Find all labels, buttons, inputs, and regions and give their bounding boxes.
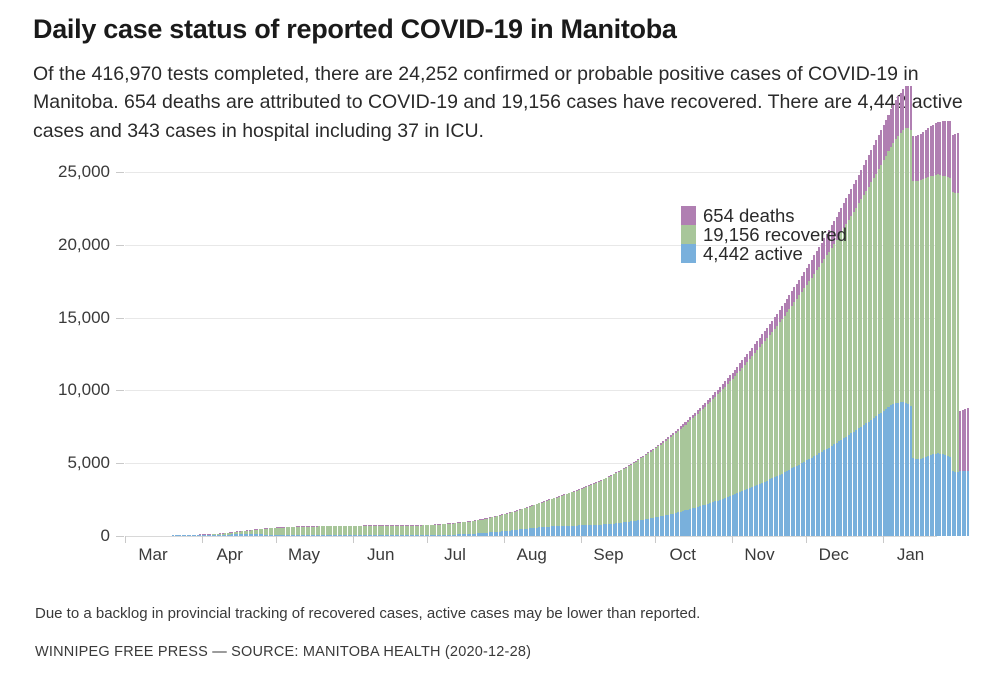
y-tick-mark-15000 <box>116 318 124 319</box>
legend-item-active: 4,442 active <box>681 244 847 263</box>
x-tick-mark-aug <box>504 536 505 543</box>
page-title: Daily case status of reported COVID-19 i… <box>33 14 963 45</box>
source-credit: WINNIPEG FREE PRESS — SOURCE: MANITOBA H… <box>35 644 531 660</box>
x-tick-label-sep: Sep <box>593 545 623 565</box>
legend-label-active: 4,442 active <box>703 244 803 263</box>
y-tick-label-0: 0 <box>0 526 110 546</box>
y-axis-labels: 05,00010,00015,00020,00025,000 <box>0 172 110 536</box>
x-tick-mark-jun <box>353 536 354 543</box>
y-tick-label-20000: 20,000 <box>0 235 110 255</box>
bar-day-340 <box>967 408 969 536</box>
x-tick-mark-sep <box>581 536 582 543</box>
x-tick-label-jun: Jun <box>367 545 394 565</box>
legend-swatch-active-icon <box>681 244 696 263</box>
x-tick-mark-mar <box>125 536 126 543</box>
x-tick-mark-apr <box>202 536 203 543</box>
legend-swatch-recovered-icon <box>681 225 696 244</box>
legend-label-deaths: 654 deaths <box>703 206 795 225</box>
legend-swatch-deaths-icon <box>681 206 696 225</box>
x-tick-mark-jan <box>883 536 884 543</box>
legend-item-recovered: 19,156 recovered <box>681 225 847 244</box>
y-tick-label-15000: 15,000 <box>0 308 110 328</box>
summary-paragraph: Of the 416,970 tests completed, there ar… <box>33 60 973 145</box>
y-tick-label-25000: 25,000 <box>0 162 110 182</box>
chart-footnote: Due to a backlog in provincial tracking … <box>35 605 700 622</box>
x-tick-mark-dec <box>806 536 807 543</box>
x-axis: MarAprMayJunJulAugSepOctNovDecJan <box>125 536 937 572</box>
bar-segment-deaths <box>910 86 912 129</box>
x-tick-mark-may <box>276 536 277 543</box>
x-tick-label-aug: Aug <box>517 545 547 565</box>
x-tick-mark-oct <box>655 536 656 543</box>
chart-legend: 654 deaths19,156 recovered4,442 active <box>681 206 847 263</box>
y-tick-mark-25000 <box>116 172 124 173</box>
legend-item-deaths: 654 deaths <box>681 206 847 225</box>
bar-segment-deaths <box>967 408 969 471</box>
bar-segment-active <box>967 471 969 536</box>
y-tick-mark-10000 <box>116 390 124 391</box>
x-tick-mark-nov <box>732 536 733 543</box>
bar-segment-deaths <box>957 133 959 193</box>
legend-label-recovered: 19,156 recovered <box>703 225 847 244</box>
x-tick-label-jul: Jul <box>444 545 466 565</box>
x-tick-label-dec: Dec <box>819 545 849 565</box>
x-tick-label-jan: Jan <box>897 545 924 565</box>
y-tick-mark-20000 <box>116 245 124 246</box>
x-tick-label-may: May <box>288 545 320 565</box>
covid-stacked-bar-chart: 05,00010,00015,00020,00025,000 654 death… <box>0 160 1000 572</box>
x-tick-mark-jul <box>427 536 428 543</box>
y-tick-label-10000: 10,000 <box>0 380 110 400</box>
x-tick-label-oct: Oct <box>670 545 696 565</box>
x-tick-label-mar: Mar <box>138 545 167 565</box>
y-tick-mark-5000 <box>116 463 124 464</box>
y-tick-label-5000: 5,000 <box>0 453 110 473</box>
x-tick-label-nov: Nov <box>744 545 774 565</box>
plot-area: 654 deaths19,156 recovered4,442 active <box>125 172 937 536</box>
infographic-page: Daily case status of reported COVID-19 i… <box>0 0 1000 692</box>
y-tick-mark-0 <box>116 536 124 537</box>
x-tick-label-apr: Apr <box>217 545 243 565</box>
